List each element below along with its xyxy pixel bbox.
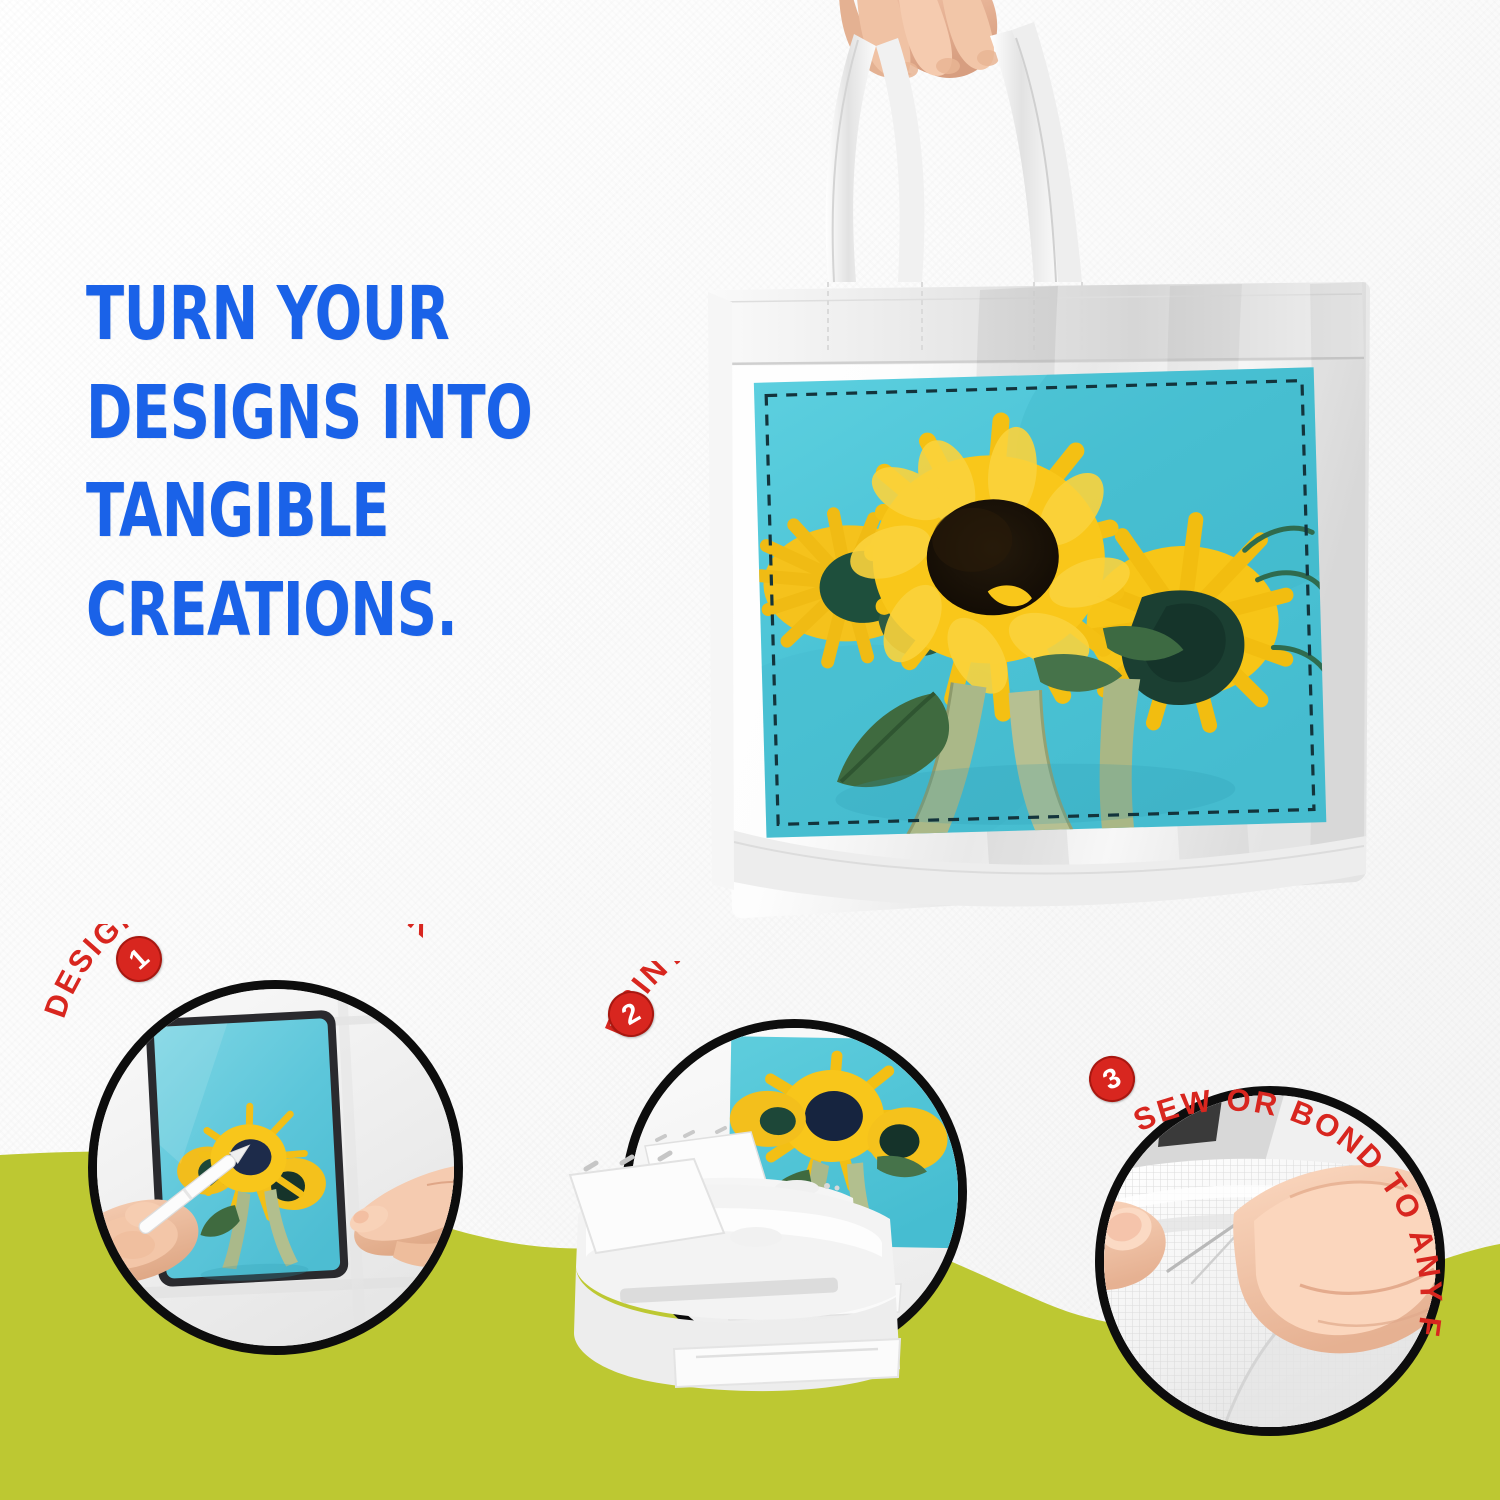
printed-patch	[672, 300, 1407, 870]
step-2[interactable]: 2 PRINT WITH EASE	[600, 985, 1000, 1385]
poster-canvas: 1 DESIGN YOUR ARTWORK	[0, 0, 1500, 1500]
headline-line-1: TURN YOUR	[86, 278, 540, 351]
step-1-photo	[88, 980, 463, 1355]
step-3-photo	[1095, 1086, 1445, 1436]
step-3[interactable]: 3 SEW OR BOND TO ANY FABRIC	[1085, 1050, 1500, 1470]
step-1[interactable]: 1 DESIGN YOUR ARTWORK	[60, 940, 480, 1360]
step-2-photo	[622, 1019, 967, 1364]
headline-line-2: DESIGNS INTO	[86, 377, 540, 450]
step-2-badge: 2	[600, 983, 663, 1046]
headline-line-4: CREATIONS.	[86, 574, 540, 647]
tote-bag-illustration	[650, 0, 1450, 970]
headline-line-3: TANGIBLE	[86, 475, 540, 548]
step-1-badge: 1	[107, 927, 172, 992]
page-title: TURN YOUR DESIGNS INTO TANGIBLE CREATION…	[86, 278, 626, 672]
step-3-badge: 3	[1081, 1048, 1143, 1110]
